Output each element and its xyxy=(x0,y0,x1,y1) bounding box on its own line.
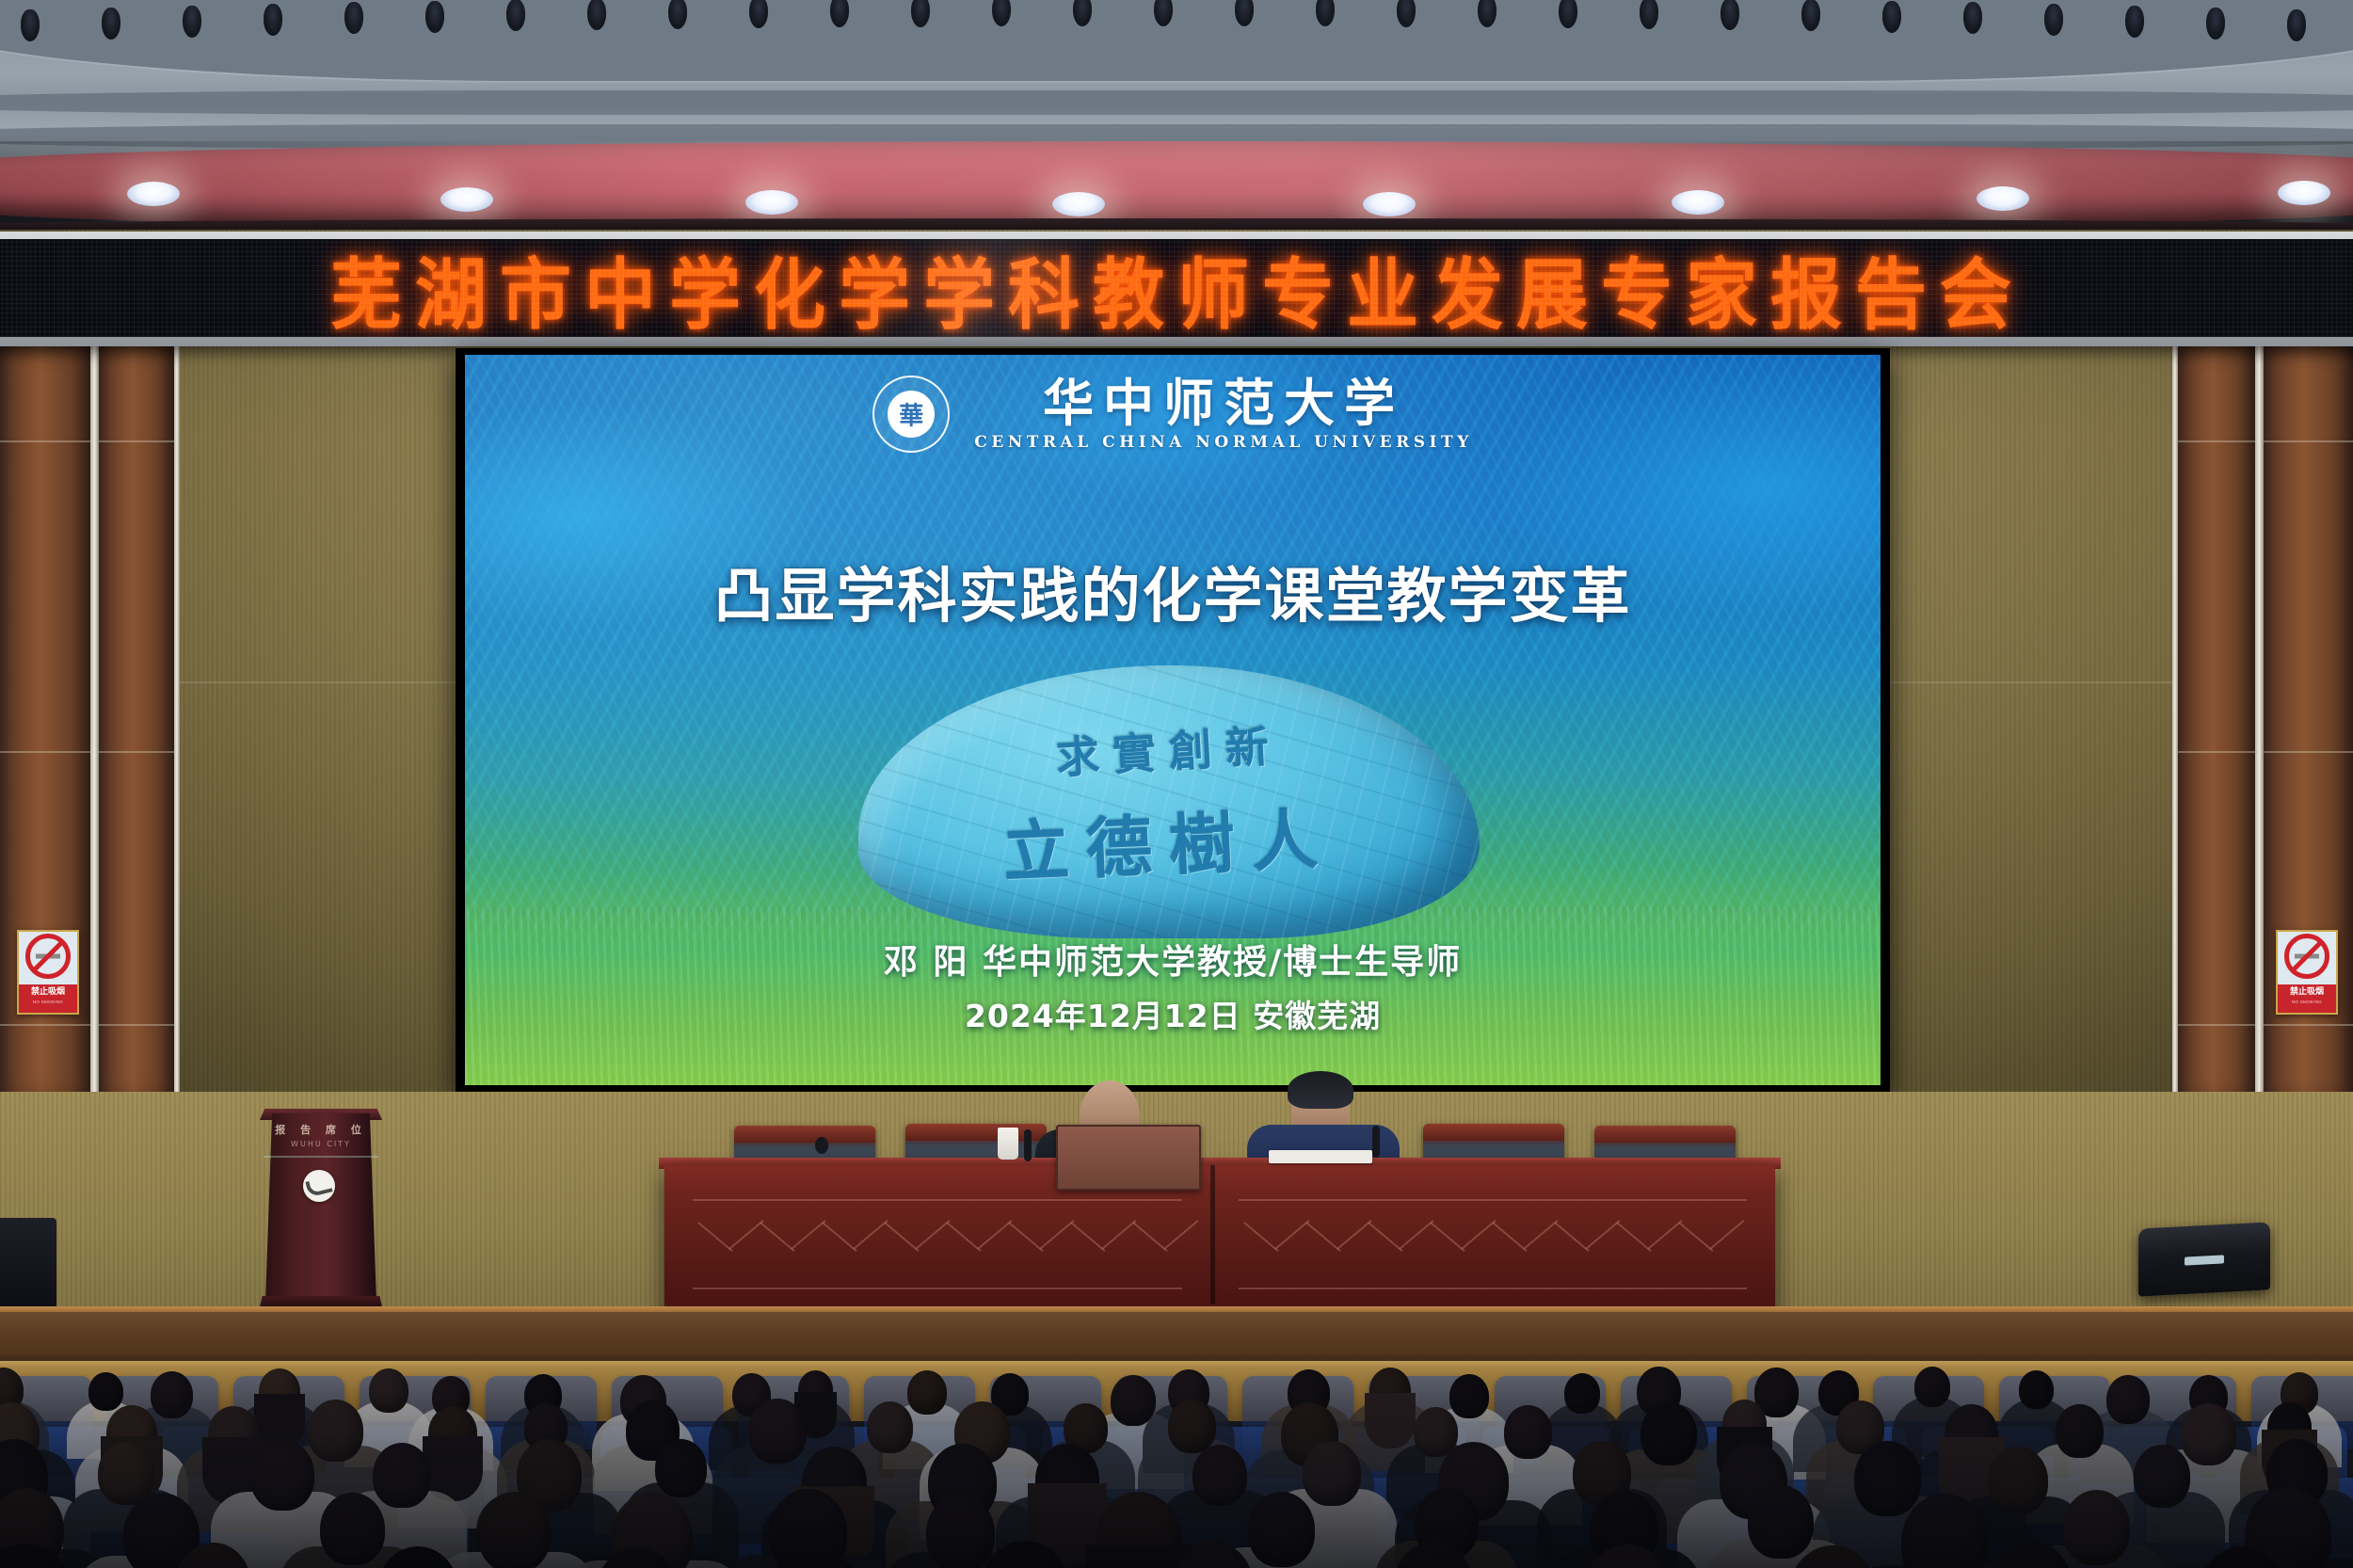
table-panel-line-2 xyxy=(1239,1199,1747,1201)
audience-member-head xyxy=(655,1439,707,1497)
ceiling-downlight xyxy=(2125,6,2144,38)
audience-member-head xyxy=(1854,1441,1921,1516)
table-panel-line-3 xyxy=(693,1288,1182,1289)
recessed-downlight xyxy=(440,187,493,212)
audience-area xyxy=(0,1355,2353,1568)
laptop[interactable] xyxy=(1056,1125,1201,1191)
audience-member-head xyxy=(88,1372,123,1411)
audience-member-head xyxy=(2134,1445,2190,1508)
documents xyxy=(1269,1150,1372,1163)
recessed-downlight xyxy=(1363,192,1416,216)
audience-member-head xyxy=(320,1493,385,1565)
podium-emblem-icon xyxy=(303,1170,335,1202)
audience-member-head xyxy=(2056,1404,2104,1458)
audience-member-head xyxy=(250,1439,314,1511)
ceiling-downlight xyxy=(264,4,282,36)
ceiling-band-1 xyxy=(0,90,2353,115)
column-trim-left-2 xyxy=(174,346,180,1099)
recessed-downlight xyxy=(1977,186,2029,211)
recessed-downlight xyxy=(127,182,180,206)
slide-title: 凸显学科实践的化学课堂教学变革 xyxy=(465,549,1881,634)
microphone xyxy=(1024,1129,1032,1161)
recessed-downlight xyxy=(745,190,798,215)
led-glare xyxy=(0,239,2353,337)
ceiling-downlight xyxy=(425,1,444,33)
slide-speaker-line: 邓 阳 华中师范大学教授/博士生导师 xyxy=(465,935,1881,984)
audience-member-head xyxy=(1988,1447,2048,1514)
no-smoking-text-cn-left: 禁止吸烟 xyxy=(19,984,77,1000)
stage-monitor-speaker-right xyxy=(2138,1222,2270,1296)
seal-glyph: 華 xyxy=(899,397,923,432)
audience-member-head xyxy=(308,1400,363,1462)
projection-screen: 求實創新 立德樹人 華 华中师范大学 CENTRAL CHINA NORMAL … xyxy=(456,348,1890,1092)
audience-member-head xyxy=(907,1370,947,1415)
microphone-3 xyxy=(815,1137,828,1154)
audience-member-head xyxy=(151,1371,193,1418)
presenter-2-hair xyxy=(1288,1071,1353,1109)
audience-member-head xyxy=(867,1401,913,1453)
audience-member-head xyxy=(478,1492,551,1568)
audience-member-head xyxy=(1193,1445,1247,1506)
slide-date-line: 2024年12月12日 安徽芜湖 xyxy=(465,991,1881,1036)
no-smoking-text-en-left: NO SMOKING xyxy=(19,1000,77,1004)
ceiling-downlight xyxy=(2044,4,2063,36)
head-table-front xyxy=(664,1165,1775,1316)
audience-member-head xyxy=(748,1399,807,1464)
speaker-badge xyxy=(2185,1256,2224,1266)
audience-member-head xyxy=(369,1368,408,1413)
no-smoking-sign-left: 禁止吸烟 NO SMOKING xyxy=(17,930,79,1015)
table-panel-line-1 xyxy=(693,1199,1182,1201)
podium-divider xyxy=(264,1156,378,1158)
university-name-cn: 华中师范大学 xyxy=(1043,376,1404,430)
audience-member-head xyxy=(926,1495,995,1568)
audience-member-head xyxy=(2019,1370,2054,1409)
university-name-en: CENTRAL CHINA NORMAL UNIVERSITY xyxy=(974,433,1473,452)
table-panel-line-4 xyxy=(1239,1288,1747,1289)
wall-seam-right xyxy=(1890,681,2172,683)
audience-member-head xyxy=(1248,1492,1315,1567)
recessed-downlight xyxy=(1052,192,1105,216)
no-smoking-label-right: 禁止吸烟 NO SMOKING xyxy=(2278,984,2336,1013)
audience-member-head xyxy=(1168,1400,1216,1453)
no-smoking-sign-right: 禁止吸烟 NO SMOKING xyxy=(2276,930,2338,1015)
audience-member-head xyxy=(1914,1367,1950,1407)
presentation-slide: 求實創新 立德樹人 華 华中师范大学 CENTRAL CHINA NORMAL … xyxy=(465,355,1881,1085)
ceiling-downlight xyxy=(21,9,40,41)
audience-member-head xyxy=(1504,1405,1552,1459)
ceiling-downlight xyxy=(1882,1,1901,33)
ceiling-downlight xyxy=(344,2,363,34)
audience-member-hair xyxy=(1365,1393,1417,1448)
ceiling-downlight xyxy=(102,8,120,40)
no-smoking-text-en-right: NO SMOKING xyxy=(2278,1000,2336,1004)
podium-label-cn: 报 告 席 位 xyxy=(265,1122,376,1137)
led-banner-screen: 芜湖市中学化学学科教师专业发展专家报告会 xyxy=(0,239,2353,337)
recessed-downlight xyxy=(1672,190,1724,215)
audience-member-head xyxy=(1449,1374,1489,1418)
audience-member-head xyxy=(1303,1441,1361,1506)
no-smoking-icon-right xyxy=(2278,932,2336,984)
microphone-2 xyxy=(1372,1126,1380,1158)
wood-column-left-inner xyxy=(99,346,174,1099)
paper-cup xyxy=(998,1128,1018,1160)
ceiling-downlight xyxy=(2206,8,2225,40)
ceiling-downlight xyxy=(183,6,201,38)
university-name-block: 华中师范大学 CENTRAL CHINA NORMAL UNIVERSITY xyxy=(974,376,1473,453)
no-smoking-text-cn-right: 禁止吸烟 xyxy=(2278,984,2336,1000)
university-seal-icon: 華 xyxy=(872,376,950,453)
wall-seam-left xyxy=(180,681,457,683)
ceiling-downlight xyxy=(1963,2,1982,34)
audience-member-head xyxy=(1748,1485,1814,1559)
led-banner: 芜湖市中学化学学科教师专业发展专家报告会 xyxy=(0,232,2353,346)
column-trim-right xyxy=(2255,346,2264,1099)
no-smoking-label-left: 禁止吸烟 NO SMOKING xyxy=(19,984,77,1013)
university-logo-row: 華 华中师范大学 CENTRAL CHINA NORMAL UNIVERSITY xyxy=(465,376,1881,453)
auditorium-photo: 芜湖市中学化学学科教师专业发展专家报告会 求實創新 立德樹人 華 华中师范大学 xyxy=(0,0,2353,1568)
audience-member-head xyxy=(1641,1402,1697,1465)
head-table-joint xyxy=(1210,1165,1215,1316)
no-smoking-icon-left xyxy=(19,932,77,984)
audience-member-head xyxy=(2063,1490,2130,1565)
audience-member-hair xyxy=(1085,1544,1192,1568)
audience-member-head xyxy=(373,1443,431,1508)
wood-column-right-inner xyxy=(2178,346,2255,1099)
audience-member-head xyxy=(2181,1403,2236,1465)
podium-label-en: WUHU CITY xyxy=(265,1140,376,1148)
audience-member-head xyxy=(1564,1373,1600,1414)
audience-member-head xyxy=(2106,1375,2150,1424)
column-trim-left xyxy=(90,346,99,1099)
ceiling-downlight xyxy=(2287,9,2306,41)
recessed-downlight xyxy=(2278,181,2330,205)
